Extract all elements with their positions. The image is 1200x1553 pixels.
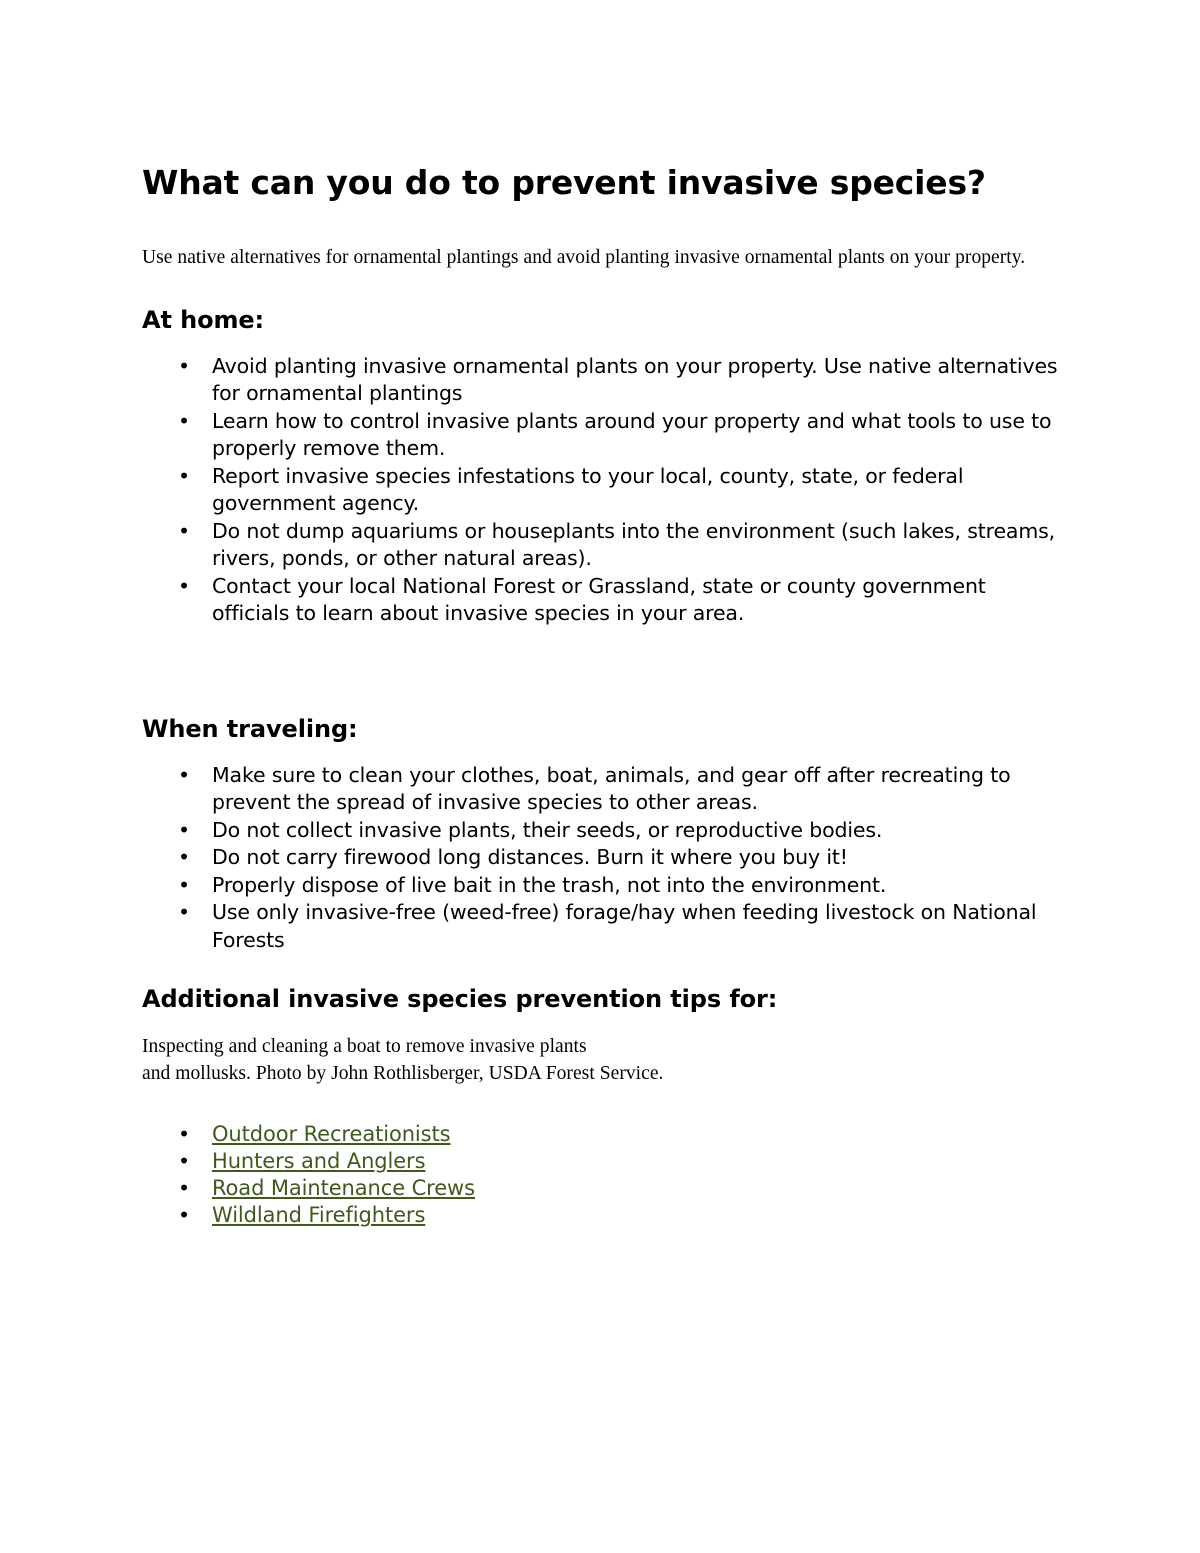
list-item-label: Use only invasive-free (weed-free) forag… [212, 899, 1058, 954]
bullet-icon: • [178, 817, 190, 845]
intro-paragraph: Use native alternatives for ornamental p… [142, 203, 1042, 272]
document-content: What can you do to prevent invasive spec… [142, 0, 1058, 1229]
list-item-label: Avoid planting invasive ornamental plant… [212, 353, 1058, 408]
photo-caption: Inspecting and cleaning a boat to remove… [142, 1014, 1058, 1087]
list-item: • Use only invasive-free (weed-free) for… [142, 899, 1058, 954]
list-item: • Road Maintenance Crews [142, 1175, 1058, 1202]
bullet-icon: • [178, 844, 190, 872]
section-heading-additional-tips: Additional invasive species prevention t… [142, 954, 1058, 1014]
photo-caption-line-1: Inspecting and cleaning a boat to remove… [142, 1036, 587, 1057]
list-item: • Properly dispose of live bait in the t… [142, 872, 1058, 900]
section-heading-at-home: At home: [142, 272, 1058, 335]
list-item: • Report invasive species infestations t… [142, 463, 1058, 518]
audience-link-list: • Outdoor Recreationists • Hunters and A… [142, 1087, 1058, 1229]
at-home-bullet-list: • Avoid planting invasive ornamental pla… [142, 335, 1058, 628]
bullet-icon: • [178, 408, 190, 436]
link-outdoor-recreationists[interactable]: Outdoor Recreationists [212, 1122, 450, 1146]
bullet-icon: • [178, 573, 190, 601]
list-item: • Do not collect invasive plants, their … [142, 817, 1058, 845]
list-item-label: Contact your local National Forest or Gr… [212, 573, 1058, 628]
list-item: • Outdoor Recreationists [142, 1121, 1058, 1148]
bullet-icon: • [178, 1175, 190, 1202]
list-item-label: Report invasive species infestations to … [212, 463, 1058, 518]
bullet-icon: • [178, 762, 190, 790]
list-item: • Hunters and Anglers [142, 1148, 1058, 1175]
bullet-icon: • [178, 518, 190, 546]
link-hunters-and-anglers[interactable]: Hunters and Anglers [212, 1149, 425, 1173]
bullet-icon: • [178, 899, 190, 927]
list-item: • Avoid planting invasive ornamental pla… [142, 353, 1058, 408]
list-item-label: Make sure to clean your clothes, boat, a… [212, 762, 1058, 817]
list-item: • Wildland Firefighters [142, 1202, 1058, 1229]
bullet-icon: • [178, 1148, 190, 1175]
list-item-label: Learn how to control invasive plants aro… [212, 408, 1058, 463]
photo-caption-line-2: and mollusks. Photo by John Rothlisberge… [142, 1063, 663, 1084]
list-item-label: Do not dump aquariums or houseplants int… [212, 518, 1058, 573]
traveling-bullet-list: • Make sure to clean your clothes, boat,… [142, 744, 1058, 955]
list-item-label: Do not carry firewood long distances. Bu… [212, 844, 1058, 872]
bullet-icon: • [178, 463, 190, 491]
section-heading-when-traveling: When traveling: [142, 628, 1058, 744]
bullet-icon: • [178, 1121, 190, 1148]
bullet-icon: • [178, 1202, 190, 1229]
list-item-label: Do not collect invasive plants, their se… [212, 817, 1058, 845]
list-item: • Make sure to clean your clothes, boat,… [142, 762, 1058, 817]
page-title: What can you do to prevent invasive spec… [142, 0, 1058, 203]
list-item: • Contact your local National Forest or … [142, 573, 1058, 628]
bullet-icon: • [178, 353, 190, 381]
list-item: • Do not dump aquariums or houseplants i… [142, 518, 1058, 573]
link-road-maintenance-crews[interactable]: Road Maintenance Crews [212, 1176, 475, 1200]
document-page: What can you do to prevent invasive spec… [0, 0, 1200, 1553]
list-item: • Do not carry firewood long distances. … [142, 844, 1058, 872]
link-wildland-firefighters[interactable]: Wildland Firefighters [212, 1203, 425, 1227]
bullet-icon: • [178, 872, 190, 900]
list-item-label: Properly dispose of live bait in the tra… [212, 872, 1058, 900]
list-item: • Learn how to control invasive plants a… [142, 408, 1058, 463]
